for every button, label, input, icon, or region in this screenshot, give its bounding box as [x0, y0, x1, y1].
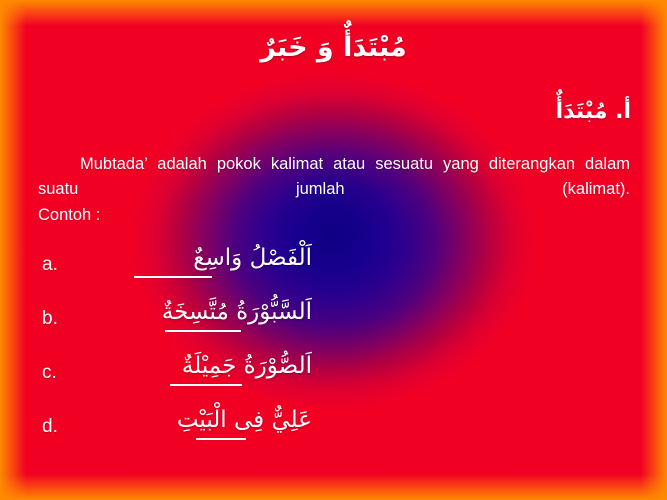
- slide-title: مُبْتَدَأٌ وَ خَبَرٌ: [0, 32, 667, 63]
- slide-subtitle: أ. مُبْتَدَأٌ: [556, 99, 631, 124]
- slide-content: مُبْتَدَأٌ وَ خَبَرٌ أ. مُبْتَدَأٌ Mubta…: [0, 0, 667, 500]
- list-item: a. اَلْفَصْلُ وَاسِعٌ: [38, 240, 638, 294]
- presentation-slide: مُبْتَدَأٌ وَ خَبَرٌ أ. مُبْتَدَأٌ Mubta…: [0, 0, 667, 500]
- list-item-marker: d.: [42, 416, 58, 438]
- mubtada-underline: [196, 438, 246, 440]
- body-paragraph: Mubtada’ adalah pokok kalimat atau sesua…: [38, 152, 630, 227]
- list-item: c. اَلصُّوْرَةُ جَمِيْلَةٌ: [38, 348, 638, 402]
- mubtada-underline: [170, 384, 242, 386]
- mubtada-underline: [134, 276, 212, 278]
- list-item-marker: b.: [42, 308, 58, 330]
- example-list: a. اَلْفَصْلُ وَاسِعٌ b. اَلسَّبُّوْرَةُ…: [38, 240, 638, 456]
- list-item-arabic-text: عَلِيٌّ فِى الْبَيْتِ: [72, 402, 312, 438]
- list-item-arabic-text: اَلْفَصْلُ وَاسِعٌ: [72, 240, 312, 276]
- list-item-marker: c.: [42, 362, 57, 384]
- list-item-arabic-text: اَلسَّبُّوْرَةُ مُتَّسِخَةٌ: [72, 294, 312, 330]
- examples-label: Contoh :: [38, 206, 100, 225]
- list-item-marker: a.: [42, 254, 58, 276]
- list-item: d. عَلِيٌّ فِى الْبَيْتِ: [38, 402, 638, 456]
- mubtada-underline: [165, 330, 241, 332]
- list-item-arabic-text: اَلصُّوْرَةُ جَمِيْلَةٌ: [72, 348, 312, 384]
- list-item: b. اَلسَّبُّوْرَةُ مُتَّسِخَةٌ: [38, 294, 638, 348]
